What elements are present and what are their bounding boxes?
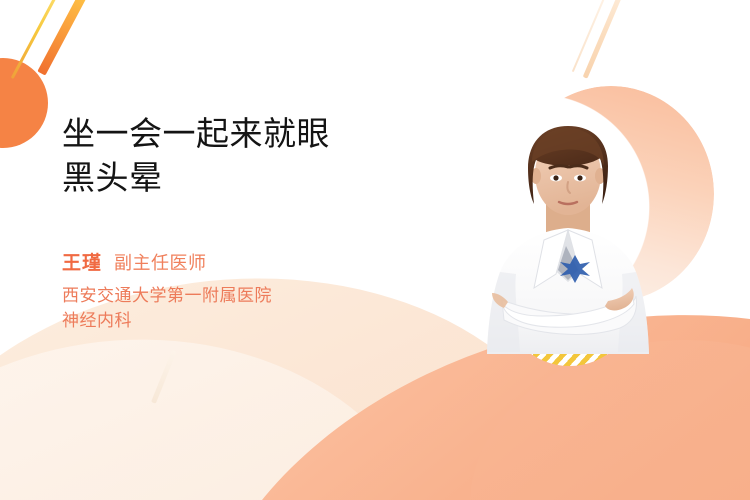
diagonal-stripe-peach: [583, 0, 633, 79]
doctor-portrait-image: [458, 96, 678, 376]
department: 神经内科: [62, 309, 442, 334]
poster-headline: 坐一会一起来就眼 黑头晕: [62, 112, 442, 200]
headline-block: 坐一会一起来就眼 黑头晕: [62, 112, 442, 200]
doctor-name: 王瑾: [62, 248, 102, 275]
doctor-health-poster: 坐一会一起来就眼 黑头晕 王瑾 副主任医师 西安交通大学第一附属医院 神经内科: [0, 0, 750, 500]
doctor-credits-block: 王瑾 副主任医师 西安交通大学第一附属医院 神经内科: [62, 248, 442, 333]
doctor-name-row: 王瑾 副主任医师: [62, 248, 442, 275]
portrait-composition: [430, 80, 750, 410]
doctor-title: 副主任医师: [114, 249, 207, 275]
hospital-name: 西安交通大学第一附属医院: [62, 284, 442, 309]
